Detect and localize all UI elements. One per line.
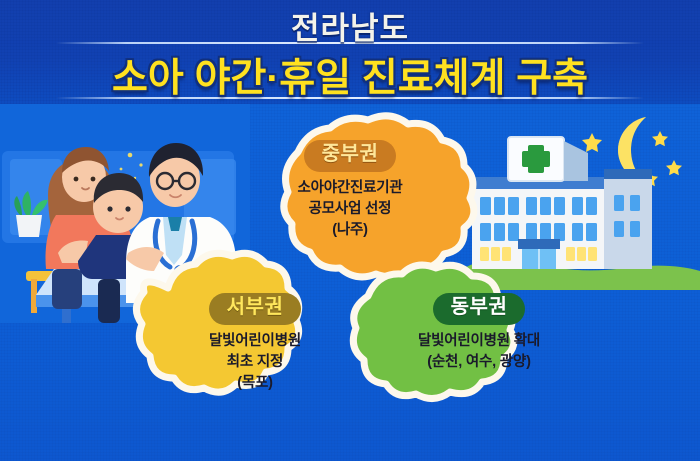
infographic-stage: 중부권 소아야간진료기관 공모사업 선정 (나주) 서부권 달빛어린이병원 최초…	[0, 0, 700, 461]
region-mid-lines: 소아야간진료기관 공모사업 선정 (나주)	[242, 178, 458, 241]
region-west-line-3: (목포)	[150, 373, 360, 394]
region-mid: 중부권 소아야간진료기관 공모사업 선정 (나주)	[242, 140, 458, 241]
region-mid-line-1: 소아야간진료기관	[242, 178, 458, 199]
region-mid-badge: 중부권	[304, 140, 397, 172]
region-west-line-1: 달빛어린이병원	[150, 331, 360, 352]
region-east-line-2: (순천, 여수, 광양)	[368, 352, 590, 373]
page-title: 소아 야간·휴일 진료체계 구축	[0, 47, 700, 103]
region-east-badge: 동부권	[433, 293, 526, 325]
header-band: 전라남도 소아 야간·휴일 진료체계 구축	[0, 0, 700, 104]
region-east-line-1: 달빛어린이병원 확대	[368, 331, 590, 352]
region-mid-line-2: 공모사업 선정	[242, 199, 458, 220]
region-west-line-2: 최초 지정	[150, 352, 360, 373]
region-mid-line-3: (나주)	[242, 220, 458, 241]
region-west-lines: 달빛어린이병원 최초 지정 (목포)	[150, 331, 360, 394]
region-east: 동부권 달빛어린이병원 확대 (순천, 여수, 광양)	[368, 293, 590, 373]
region-east-lines: 달빛어린이병원 확대 (순천, 여수, 광양)	[368, 331, 590, 373]
region-west: 서부권 달빛어린이병원 최초 지정 (목포)	[150, 293, 360, 394]
region-west-badge: 서부권	[209, 293, 302, 325]
province-title: 전라남도	[0, 3, 700, 48]
